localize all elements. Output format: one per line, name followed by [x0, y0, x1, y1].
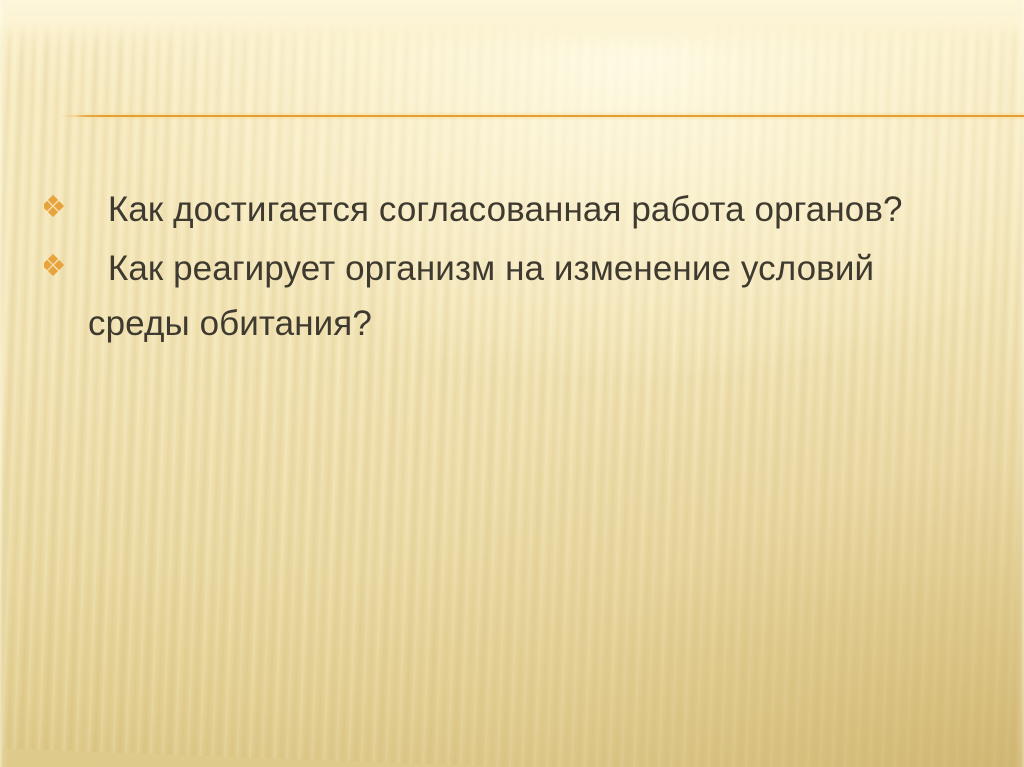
title-separator-line	[60, 115, 1024, 117]
slide-content: Как достигается согласованная работа орг…	[0, 0, 1024, 767]
list-item: Как достигается согласованная работа орг…	[0, 182, 1024, 237]
four-diamond-bullet-icon	[44, 195, 66, 217]
title-separator-glow	[60, 113, 1024, 119]
slide-title-placeholder	[78, 34, 978, 106]
title-separator-rule	[60, 113, 1024, 119]
slide: Как достигается согласованная работа орг…	[0, 0, 1024, 767]
list-item-text: Как достигается согласованная работа орг…	[88, 182, 908, 237]
four-diamond-bullet-icon	[44, 254, 66, 276]
list-item: Как реагирует организм на изменение усло…	[0, 241, 1024, 351]
list-item-text: Как реагирует организм на изменение усло…	[88, 241, 908, 351]
bullet-list: Как достигается согласованная работа орг…	[0, 182, 1024, 355]
